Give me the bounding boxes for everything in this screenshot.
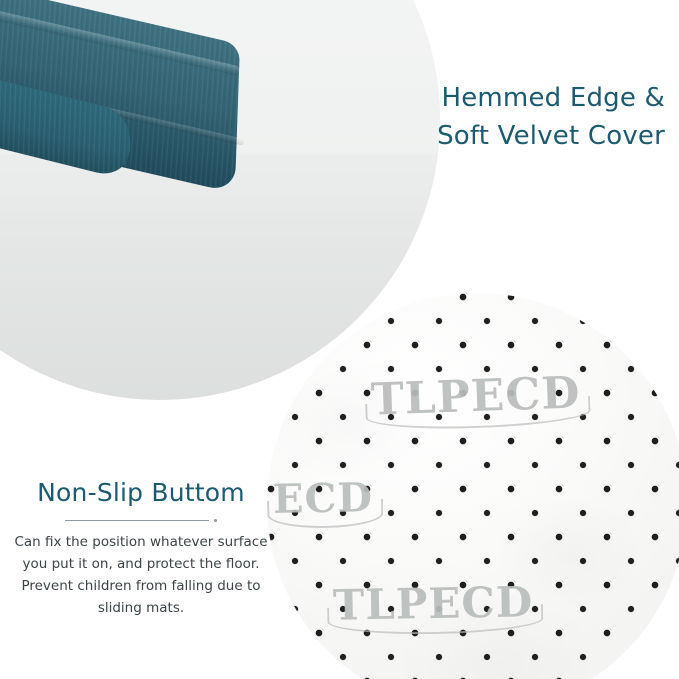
watermark-logo-3: TLPECD <box>333 577 534 629</box>
feature-divider <box>65 519 217 522</box>
divider-dot <box>214 519 217 522</box>
watermark-logo-1: TLPECD <box>370 367 581 425</box>
headline-line-2: Soft Velvet Cover <box>335 118 665 156</box>
non-slip-backing-circle: TLPECD ECD TLPECD <box>267 293 679 679</box>
feature-block: Non-Slip Buttom Can fix the position wha… <box>14 478 268 619</box>
divider-line <box>65 520 209 521</box>
feature-body-line-4: sliding mats. <box>14 598 268 620</box>
feature-body-line-2: you put it on, and protect the floor. <box>14 554 268 576</box>
image-canvas: TLPECD ECD TLPECD Hemmed Edge & Soft Vel… <box>0 0 679 679</box>
folded-velvet-mat <box>0 0 370 240</box>
headline-line-1: Hemmed Edge & <box>441 83 665 113</box>
headline-block: Hemmed Edge & Soft Velvet Cover <box>335 80 665 155</box>
feature-title: Non-Slip Buttom <box>14 478 268 507</box>
watermark-logo-2: ECD <box>273 474 374 523</box>
feature-body-line-3: Prevent children from falling due to <box>14 576 268 598</box>
feature-body: Can fix the position whatever surface yo… <box>14 532 268 619</box>
feature-body-line-1: Can fix the position whatever surface <box>14 532 268 554</box>
